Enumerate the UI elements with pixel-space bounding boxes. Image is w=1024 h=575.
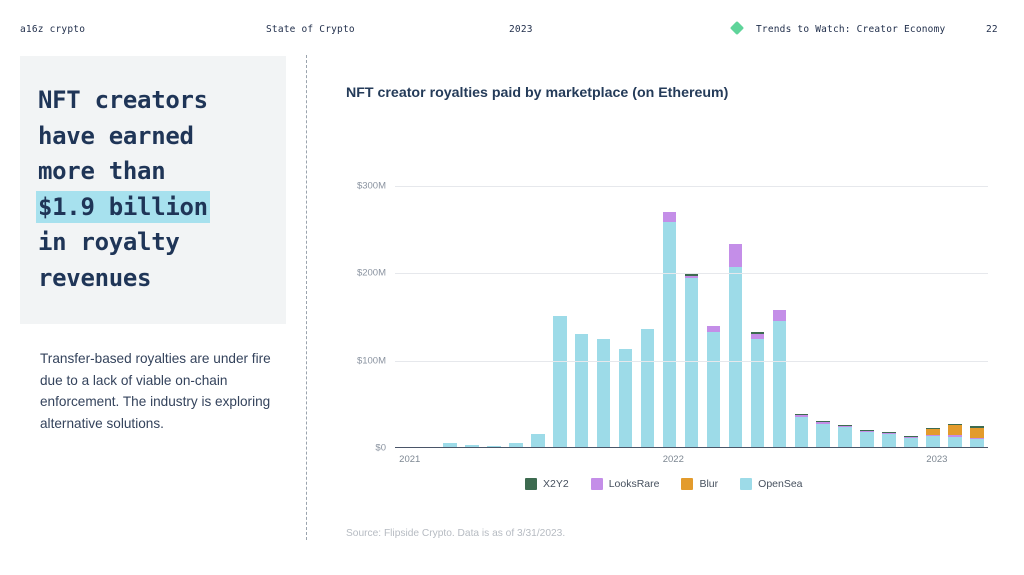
slide: a16z crypto State of Crypto 2023 Trends … — [0, 0, 1024, 575]
brand-label: a16z crypto — [20, 24, 85, 35]
plot-area: $0$100M$200M$300M202120222023 — [395, 168, 988, 448]
x-axis-label: 2022 — [663, 454, 684, 465]
headline-line-3: $1.9 billion — [38, 190, 278, 226]
bar-segment-opensea — [729, 267, 743, 448]
bar-segment-blur — [970, 428, 984, 439]
headline-line-5: revenues — [38, 261, 278, 297]
bar-segment-opensea — [838, 427, 852, 448]
headline-highlight: $1.9 billion — [38, 193, 208, 221]
bar-segment-opensea — [641, 329, 655, 448]
bar-segment-looksrare — [663, 212, 677, 223]
page-title: NFT creatorshave earnedmore than$1.9 bil… — [38, 83, 278, 296]
bar-2021-10[interactable] — [597, 339, 611, 448]
bar-segment-looksrare — [729, 244, 743, 267]
y-axis-label: $300M — [330, 180, 386, 191]
bar-segment-opensea — [663, 222, 677, 448]
bar-2022-11[interactable] — [882, 432, 896, 448]
vertical-divider — [306, 55, 307, 540]
bar-segment-opensea — [619, 349, 633, 448]
bar-segment-opensea — [575, 334, 589, 448]
bar-2021-07[interactable] — [531, 434, 545, 448]
bar-segment-opensea — [553, 316, 567, 448]
bar-segment-opensea — [795, 417, 809, 449]
x-axis-line — [395, 447, 988, 448]
bar-2022-05[interactable] — [751, 332, 765, 448]
headline-line-0: NFT creators — [38, 83, 278, 119]
bar-2022-04[interactable] — [729, 244, 743, 448]
bar-2022-01[interactable] — [663, 212, 677, 448]
bar-2021-11[interactable] — [619, 349, 633, 448]
bar-segment-opensea — [685, 278, 699, 448]
bar-segment-opensea — [597, 339, 611, 448]
source-note: Source: Flipside Crypto. Data is as of 3… — [346, 528, 565, 539]
bar-segment-opensea — [707, 332, 721, 448]
bar-segment-looksrare — [773, 310, 787, 321]
gridline — [395, 186, 988, 187]
legend-label: LooksRare — [609, 478, 660, 490]
bar-segment-opensea — [531, 434, 545, 448]
bar-segment-opensea — [816, 424, 830, 449]
headline-line-2: more than — [38, 154, 278, 190]
y-axis-label: $100M — [330, 355, 386, 366]
bar-2023-03[interactable] — [970, 426, 984, 448]
legend-item-opensea[interactable]: OpenSea — [740, 478, 802, 490]
x-axis-label: 2023 — [926, 454, 947, 465]
document-title: State of Crypto — [266, 24, 355, 35]
bar-segment-opensea — [860, 432, 874, 448]
legend-swatch — [525, 478, 537, 490]
legend-item-looksrare[interactable]: LooksRare — [591, 478, 660, 490]
chart-title: NFT creator royalties paid by marketplac… — [346, 85, 728, 101]
body-paragraph: Transfer-based royalties are under fire … — [40, 348, 272, 434]
bar-segment-opensea — [751, 339, 765, 448]
bar-2021-09[interactable] — [575, 334, 589, 448]
bar-2023-01[interactable] — [926, 428, 940, 448]
bar-segment-opensea — [882, 434, 896, 448]
x-axis-label: 2021 — [399, 454, 420, 465]
page-number: 22 — [986, 24, 998, 35]
y-axis-label: $200M — [330, 268, 386, 279]
legend-item-blur[interactable]: Blur — [681, 478, 718, 490]
headline-line-4: in royalty — [38, 225, 278, 261]
legend-item-x2y2[interactable]: X2Y2 — [525, 478, 569, 490]
bar-2021-08[interactable] — [553, 316, 567, 448]
bar-2022-08[interactable] — [816, 421, 830, 448]
y-axis-label: $0 — [330, 443, 386, 454]
slide-header: a16z crypto State of Crypto 2023 Trends … — [0, 0, 1024, 48]
bar-2022-06[interactable] — [773, 310, 787, 448]
diamond-icon — [729, 20, 744, 35]
bar-segment-opensea — [773, 321, 787, 448]
section-label: Trends to Watch: Creator Economy — [756, 24, 945, 35]
legend-swatch — [740, 478, 752, 490]
chart: $0$100M$200M$300M202120222023 — [346, 150, 996, 470]
legend-swatch — [591, 478, 603, 490]
legend-label: X2Y2 — [543, 478, 569, 490]
bar-group — [395, 168, 988, 448]
bar-2022-09[interactable] — [838, 425, 852, 448]
bar-segment-blur — [948, 425, 962, 436]
gridline — [395, 273, 988, 274]
bar-2022-10[interactable] — [860, 430, 874, 448]
bar-2021-12[interactable] — [641, 329, 655, 448]
gridline — [395, 361, 988, 362]
legend-label: OpenSea — [758, 478, 802, 490]
headline-line-1: have earned — [38, 119, 278, 155]
bar-2022-03[interactable] — [707, 326, 721, 449]
chart-legend: X2Y2LooksRareBlurOpenSea — [525, 478, 815, 490]
bar-2023-02[interactable] — [948, 424, 962, 448]
legend-label: Blur — [699, 478, 718, 490]
legend-swatch — [681, 478, 693, 490]
report-year: 2023 — [509, 24, 533, 35]
bar-2022-07[interactable] — [795, 414, 809, 448]
